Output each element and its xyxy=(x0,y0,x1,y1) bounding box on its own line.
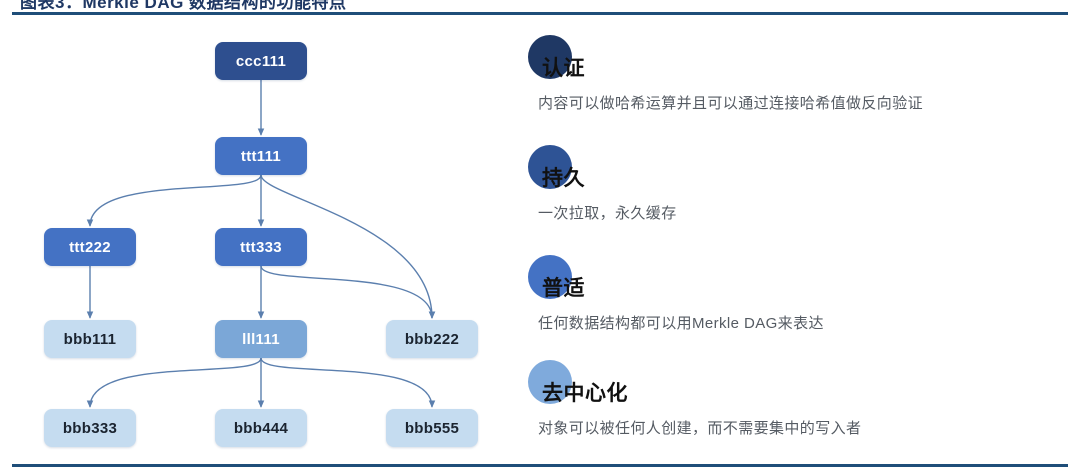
feature-description: 一次拉取，永久缓存 xyxy=(538,202,677,223)
dag-node-label: lll111 xyxy=(242,331,280,348)
dag-edge-lll111-to-bbb333 xyxy=(90,358,261,407)
dag-node-label: bbb333 xyxy=(63,420,117,437)
dag-node-bbb222[interactable]: bbb222 xyxy=(386,320,478,358)
dag-node-ttt111[interactable]: ttt111 xyxy=(215,137,307,175)
feature-description: 任何数据结构都可以用Merkle DAG来表达 xyxy=(538,312,824,333)
dag-node-label: bbb555 xyxy=(405,420,459,437)
dag-node-bbb111[interactable]: bbb111 xyxy=(44,320,136,358)
dag-node-label: bbb444 xyxy=(234,420,288,437)
feature-title: 普适 xyxy=(542,272,585,302)
dag-node-label: ttt333 xyxy=(240,239,282,256)
feature-description: 内容可以做哈希运算并且可以通过连接哈希值做反向验证 xyxy=(538,92,923,113)
feature-list: 认证内容可以做哈希运算并且可以通过连接哈希值做反向验证持久一次拉取，永久缓存普适… xyxy=(528,17,1068,462)
feature-title: 认证 xyxy=(542,52,585,82)
feature-item-2: 持久一次拉取，永久缓存 xyxy=(528,145,1068,245)
dag-node-label: ccc111 xyxy=(236,53,286,70)
feature-item-4: 去中心化对象可以被任何人创建，而不需要集中的写入者 xyxy=(528,360,1068,460)
dag-node-bbb555[interactable]: bbb555 xyxy=(386,409,478,447)
dag-node-ttt333[interactable]: ttt333 xyxy=(215,228,307,266)
dag-node-ttt222[interactable]: ttt222 xyxy=(44,228,136,266)
content-panel: ccc111ttt111ttt222ttt333bbb111lll111bbb2… xyxy=(0,17,1080,462)
feature-title: 持久 xyxy=(542,162,585,192)
dag-node-lll111[interactable]: lll111 xyxy=(215,320,307,358)
dag-node-label: bbb111 xyxy=(64,331,117,348)
feature-item-1: 认证内容可以做哈希运算并且可以通过连接哈希值做反向验证 xyxy=(528,35,1068,135)
dag-edge-ttt111-to-ttt222 xyxy=(90,175,261,226)
dag-node-ccc111[interactable]: ccc111 xyxy=(215,42,307,80)
dag-node-label: ttt222 xyxy=(69,239,111,256)
dag-edge-ttt333-to-bbb222 xyxy=(261,266,432,318)
feature-title: 去中心化 xyxy=(542,377,628,407)
dag-node-label: bbb222 xyxy=(405,331,459,348)
slide-root: 图表3：Merkle DAG 数据结构的功能特点 ccc111ttt111ttt… xyxy=(0,0,1080,473)
top-divider-rule xyxy=(12,12,1068,15)
merkle-dag-diagram: ccc111ttt111ttt222ttt333bbb111lll111bbb2… xyxy=(0,17,505,462)
dag-edge-lll111-to-bbb555 xyxy=(261,358,432,407)
dag-node-label: ttt111 xyxy=(241,148,281,165)
feature-item-3: 普适任何数据结构都可以用Merkle DAG来表达 xyxy=(528,255,1068,355)
bottom-divider-rule xyxy=(12,464,1068,467)
dag-node-bbb444[interactable]: bbb444 xyxy=(215,409,307,447)
dag-node-bbb333[interactable]: bbb333 xyxy=(44,409,136,447)
feature-description: 对象可以被任何人创建，而不需要集中的写入者 xyxy=(538,417,861,438)
